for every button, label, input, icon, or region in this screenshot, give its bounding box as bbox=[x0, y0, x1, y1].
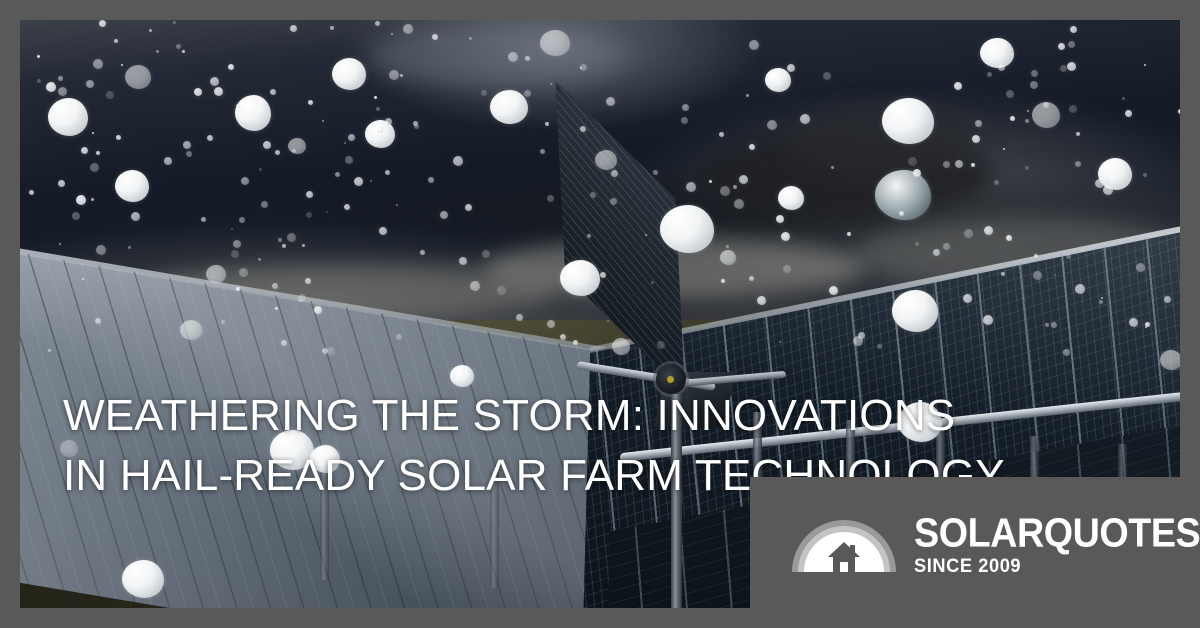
hailstone bbox=[540, 30, 570, 56]
hailstone-small bbox=[281, 340, 287, 346]
hailstone bbox=[765, 68, 791, 92]
hailstone-small bbox=[194, 88, 202, 96]
hailstone-small bbox=[396, 204, 398, 206]
hailstone-small bbox=[739, 175, 748, 184]
house-window bbox=[840, 562, 848, 572]
hailstone-small bbox=[975, 120, 982, 127]
hailstone-small bbox=[156, 50, 159, 53]
hailstone bbox=[595, 150, 617, 170]
hailstone-small bbox=[481, 90, 487, 96]
hailstone-small bbox=[719, 132, 724, 137]
hailstone-small bbox=[994, 180, 999, 185]
hailstone bbox=[882, 98, 934, 144]
hailstone-small bbox=[164, 157, 172, 165]
hailstone bbox=[980, 38, 1014, 68]
hailstone-small bbox=[391, 33, 393, 35]
hailstone bbox=[720, 250, 736, 265]
hailstone-small bbox=[344, 142, 346, 144]
hailstone-small bbox=[459, 257, 467, 265]
hailstone-small bbox=[1068, 41, 1075, 48]
hailstone-small bbox=[779, 341, 781, 343]
hailstone-small bbox=[90, 163, 99, 172]
hailstone-small bbox=[92, 132, 94, 134]
hailstone-small bbox=[987, 72, 992, 77]
hailstone-small bbox=[290, 25, 297, 32]
hailstone-small bbox=[600, 272, 606, 278]
hailstone-small bbox=[746, 94, 749, 97]
hailstone-small bbox=[345, 156, 353, 164]
hailstone bbox=[490, 90, 528, 124]
hailstone-small bbox=[964, 229, 973, 238]
hailstone bbox=[1160, 350, 1180, 370]
hailstone-small bbox=[322, 348, 328, 354]
house-in-arc-icon bbox=[792, 514, 896, 572]
hailstone-small bbox=[877, 344, 882, 349]
hailstone-small bbox=[396, 334, 402, 340]
hailstone-small bbox=[908, 157, 917, 166]
hailstone-small bbox=[282, 244, 286, 248]
hailstone-small bbox=[379, 227, 387, 235]
hailstone-small bbox=[590, 192, 596, 198]
hailstone bbox=[332, 58, 366, 90]
hailstone-small bbox=[114, 39, 118, 43]
hailstone bbox=[125, 65, 151, 89]
hailstone bbox=[206, 265, 226, 283]
hailstone-small bbox=[1103, 185, 1113, 195]
hailstone-small bbox=[182, 50, 185, 53]
hailstone-small bbox=[681, 117, 688, 124]
hailstone-small bbox=[1006, 90, 1014, 98]
hailstone-small bbox=[46, 82, 56, 92]
hailstone-small bbox=[508, 52, 518, 62]
hailstone-small bbox=[76, 195, 86, 205]
hailstone-small bbox=[1030, 81, 1038, 89]
hailstone-small bbox=[971, 163, 975, 167]
hailstone-small bbox=[275, 307, 278, 310]
hailstone-small bbox=[259, 168, 262, 171]
hailstone-small bbox=[354, 177, 363, 186]
hailstone-small bbox=[1164, 296, 1171, 303]
hailstone-small bbox=[899, 211, 904, 216]
hailstone-small bbox=[231, 250, 239, 258]
hailstone-small bbox=[121, 64, 123, 66]
hailstone-small bbox=[72, 212, 80, 220]
brand-logo[interactable]: SOLARQUOTES® SINCE 2009 bbox=[750, 477, 1180, 608]
hailstone-small bbox=[81, 147, 88, 154]
hailstone-small bbox=[344, 204, 350, 210]
hailstone-small bbox=[757, 296, 766, 305]
hailstone-small bbox=[241, 177, 249, 185]
hailstone-small bbox=[302, 244, 305, 247]
hailstone-small bbox=[210, 77, 219, 86]
hailstone-small bbox=[305, 278, 311, 284]
hailstone-small bbox=[913, 169, 921, 177]
hailstone-small bbox=[306, 212, 312, 218]
hailstone-small bbox=[497, 286, 506, 295]
hailstone-small bbox=[1122, 97, 1125, 100]
hailstone-small bbox=[1031, 70, 1038, 77]
hailstone-small bbox=[915, 242, 919, 246]
hailstone-small bbox=[116, 135, 121, 140]
hailstone bbox=[288, 138, 306, 154]
hailstone-small bbox=[59, 243, 61, 245]
hailstone-small bbox=[1034, 254, 1038, 258]
hailstone-small bbox=[933, 249, 940, 256]
hailstone-small bbox=[1066, 254, 1071, 259]
hailstone-small bbox=[610, 198, 617, 205]
hailstone-small bbox=[48, 349, 51, 352]
hailstone-small bbox=[99, 20, 106, 27]
hailstone bbox=[612, 338, 630, 355]
hailstone-small bbox=[767, 120, 777, 130]
hailstone-small bbox=[86, 80, 94, 88]
hailstone-small bbox=[377, 127, 383, 133]
hailstone-small bbox=[1069, 105, 1077, 113]
hailstone-small bbox=[783, 265, 791, 273]
house-roof bbox=[828, 542, 860, 557]
hailstone-small bbox=[306, 191, 313, 198]
hailstone-small bbox=[686, 182, 696, 192]
hailstone-small bbox=[183, 141, 191, 149]
hailstone-small bbox=[385, 118, 392, 125]
hailstone-small bbox=[374, 96, 377, 99]
hailstone-small bbox=[322, 120, 324, 122]
hailstone-small bbox=[831, 166, 834, 169]
hailstone-small bbox=[465, 204, 472, 211]
hailstone-small bbox=[1025, 119, 1029, 123]
hailstone-small bbox=[550, 83, 552, 85]
logo-text-block: SOLARQUOTES® SINCE 2009 bbox=[914, 507, 1200, 579]
hailstone-small bbox=[587, 234, 591, 238]
hailstone-small bbox=[82, 278, 84, 280]
hailstone-small bbox=[470, 281, 480, 291]
hailstone-small bbox=[540, 149, 545, 154]
hailstone-small bbox=[275, 150, 280, 155]
hailstone-small bbox=[348, 134, 355, 141]
hailstone-small bbox=[58, 87, 67, 96]
hailstone-small bbox=[385, 170, 390, 175]
hailstone bbox=[235, 95, 271, 131]
logo-tagline: SINCE 2009 bbox=[914, 556, 1200, 578]
hailstone-small bbox=[131, 212, 140, 221]
hailstone-small bbox=[726, 245, 729, 248]
hailstone-small bbox=[1101, 297, 1103, 299]
hailstone-small bbox=[214, 87, 223, 96]
hailstone-small bbox=[547, 195, 554, 202]
hailstone-small bbox=[657, 341, 665, 349]
hailstone-small bbox=[201, 217, 206, 222]
hailstone-small bbox=[236, 104, 240, 108]
hailstone-small bbox=[93, 59, 103, 69]
hailstone-small bbox=[95, 318, 101, 324]
hailstone-small bbox=[128, 246, 131, 249]
hailstone-small bbox=[58, 180, 65, 187]
hailstone-small bbox=[233, 240, 241, 248]
hailstone-small bbox=[1033, 271, 1042, 280]
hailstone-small bbox=[892, 174, 894, 176]
logo-wordmark: SOLARQUOTES® bbox=[914, 507, 1200, 554]
hailstone-small bbox=[1060, 65, 1067, 72]
hailstone-small bbox=[963, 294, 972, 303]
hailstone bbox=[180, 320, 202, 340]
hailstone-small bbox=[954, 82, 962, 90]
hailstone-small bbox=[308, 100, 313, 105]
hailstone-small bbox=[37, 79, 41, 83]
hailstone-small bbox=[847, 232, 851, 236]
logo-wordmark-text: SOLARQUOTES bbox=[914, 509, 1200, 555]
hailstone-small bbox=[376, 107, 380, 111]
hailstone-small bbox=[1143, 173, 1147, 177]
hailstone-small bbox=[1129, 318, 1138, 327]
hailstone-small bbox=[231, 228, 233, 230]
hailstone-small bbox=[1006, 235, 1012, 241]
hailstone-small bbox=[173, 21, 176, 24]
hailstone-small bbox=[1011, 54, 1013, 56]
house-silhouette-icon bbox=[828, 542, 860, 572]
hailstone-small bbox=[1099, 300, 1103, 304]
hailstone-small bbox=[573, 340, 578, 345]
hailstone-small bbox=[580, 67, 582, 69]
hailstone-small bbox=[1145, 322, 1150, 327]
hailstone-small bbox=[326, 211, 328, 213]
hailstone-small bbox=[272, 283, 278, 289]
hailstone-small bbox=[1003, 148, 1005, 150]
hailstone-small bbox=[943, 161, 950, 168]
hailstone-small bbox=[432, 34, 438, 40]
hailstone-small bbox=[607, 320, 609, 322]
hailstone bbox=[48, 98, 88, 136]
hailstone-small bbox=[453, 156, 463, 166]
hailstone-small bbox=[314, 306, 322, 314]
hailstone-small bbox=[330, 26, 334, 30]
hailstone-small bbox=[400, 74, 403, 77]
hailstone-small bbox=[1010, 116, 1015, 121]
hailstone-small bbox=[547, 320, 555, 328]
hailstone-small bbox=[749, 276, 754, 281]
hailstone-small bbox=[787, 64, 795, 72]
hailstone-small bbox=[186, 151, 192, 157]
hailstone-small bbox=[516, 314, 523, 321]
hailstone-small bbox=[403, 24, 413, 34]
hailstone-small bbox=[525, 56, 530, 61]
hailstone-small bbox=[299, 299, 302, 302]
hailstone-small bbox=[1063, 349, 1070, 356]
hailstone-small bbox=[1058, 43, 1065, 50]
hailstone-small bbox=[733, 185, 737, 189]
hailstone-small bbox=[370, 180, 372, 182]
hailstone bbox=[450, 365, 474, 387]
hailstone-small bbox=[106, 91, 114, 99]
hailstone-small bbox=[720, 186, 730, 196]
hailstone-small bbox=[278, 238, 282, 242]
hailstone-small bbox=[560, 334, 566, 340]
hailstone-small bbox=[292, 149, 296, 153]
hailstone-small bbox=[682, 104, 689, 111]
hailstone-small bbox=[420, 250, 425, 255]
hailstone-small bbox=[651, 281, 654, 284]
hailstone-small bbox=[1136, 263, 1145, 272]
social-share-banner: WEATHERING THE STORM: INNOVATIONS IN HAI… bbox=[0, 0, 1200, 628]
hailstone-small bbox=[1051, 322, 1057, 328]
hailstone-small bbox=[440, 211, 448, 219]
hailstone-small bbox=[469, 37, 472, 40]
hailstone-small bbox=[327, 347, 335, 355]
hailstone bbox=[122, 560, 164, 598]
hailstone-small bbox=[1001, 272, 1005, 276]
hailstone-small bbox=[1043, 102, 1049, 108]
hailstone-small bbox=[943, 243, 950, 250]
hailstone-small bbox=[829, 286, 838, 295]
hailstone-small bbox=[1070, 26, 1077, 33]
hailstone-small bbox=[176, 44, 181, 49]
hailstone-small bbox=[1027, 110, 1029, 112]
hailstone-small bbox=[239, 217, 245, 223]
hailstone bbox=[115, 170, 149, 202]
hailstone-small bbox=[734, 199, 744, 209]
hailstone-small bbox=[261, 201, 268, 208]
hailstone-small bbox=[984, 226, 993, 235]
hailstone-small bbox=[228, 64, 234, 70]
hailstone-small bbox=[335, 172, 340, 177]
hailstone-small bbox=[29, 190, 34, 195]
hailstone-small bbox=[239, 268, 248, 277]
hailstone-small bbox=[375, 21, 380, 26]
hailstone-small bbox=[258, 258, 261, 261]
hailstone-small bbox=[721, 279, 725, 283]
hailstone-small bbox=[263, 141, 271, 149]
hailstone-small bbox=[776, 215, 784, 223]
hailstone-small bbox=[91, 198, 94, 201]
hailstone bbox=[892, 290, 938, 332]
hailstone-small bbox=[96, 151, 100, 155]
hailstone-small bbox=[606, 97, 615, 106]
hailstone-small bbox=[524, 90, 531, 97]
hailstone bbox=[778, 186, 804, 210]
hailstone bbox=[660, 205, 714, 253]
hailstone-small bbox=[580, 126, 586, 132]
hailstone-small bbox=[482, 250, 490, 258]
hailstone-small bbox=[1144, 64, 1146, 66]
hailstone-small bbox=[287, 233, 296, 242]
hailstone-small bbox=[653, 170, 658, 175]
hailstone bbox=[560, 260, 600, 296]
hailstone-small bbox=[1125, 110, 1132, 117]
hailstone-small bbox=[207, 135, 213, 141]
hailstone-small bbox=[709, 180, 712, 183]
hailstone-small bbox=[236, 287, 240, 291]
hailstone-small bbox=[1067, 62, 1076, 71]
hailstone-small bbox=[972, 135, 980, 143]
hailstone-small bbox=[96, 245, 106, 255]
hailstone-small bbox=[645, 234, 647, 236]
hailstone-small bbox=[781, 232, 790, 241]
hailstone-small bbox=[149, 29, 152, 32]
hailstone-small bbox=[1178, 109, 1180, 114]
hailstone-small bbox=[749, 40, 759, 50]
hailstone-small bbox=[1076, 132, 1080, 136]
hailstone-small bbox=[611, 170, 618, 177]
hailstone-small bbox=[58, 76, 63, 81]
hailstone-small bbox=[800, 114, 810, 124]
hailstone-small bbox=[1045, 323, 1049, 327]
hailstone-small bbox=[998, 64, 1005, 71]
hailstone-small bbox=[413, 121, 418, 126]
hailstone-small bbox=[823, 72, 831, 80]
hailstone-small bbox=[853, 336, 863, 346]
title-line-1: WEATHERING THE STORM: INNOVATIONS bbox=[63, 386, 1123, 446]
hailstone-small bbox=[1075, 284, 1085, 294]
hailstone-small bbox=[1054, 274, 1056, 276]
hailstone-small bbox=[389, 70, 399, 80]
house-chimney bbox=[850, 545, 855, 556]
hailstone-small bbox=[1025, 166, 1029, 170]
hailstone-small bbox=[749, 144, 755, 150]
cloud-icon bbox=[368, 27, 628, 87]
hailstone-small bbox=[270, 89, 276, 95]
hailstone-small bbox=[37, 55, 40, 58]
hailstone-small bbox=[955, 160, 963, 168]
hailstone-small bbox=[428, 177, 434, 183]
hailstone-small bbox=[545, 122, 549, 126]
hailstone-small bbox=[1075, 161, 1081, 167]
hailstone-small bbox=[221, 320, 225, 324]
hailstone-small bbox=[983, 315, 993, 325]
